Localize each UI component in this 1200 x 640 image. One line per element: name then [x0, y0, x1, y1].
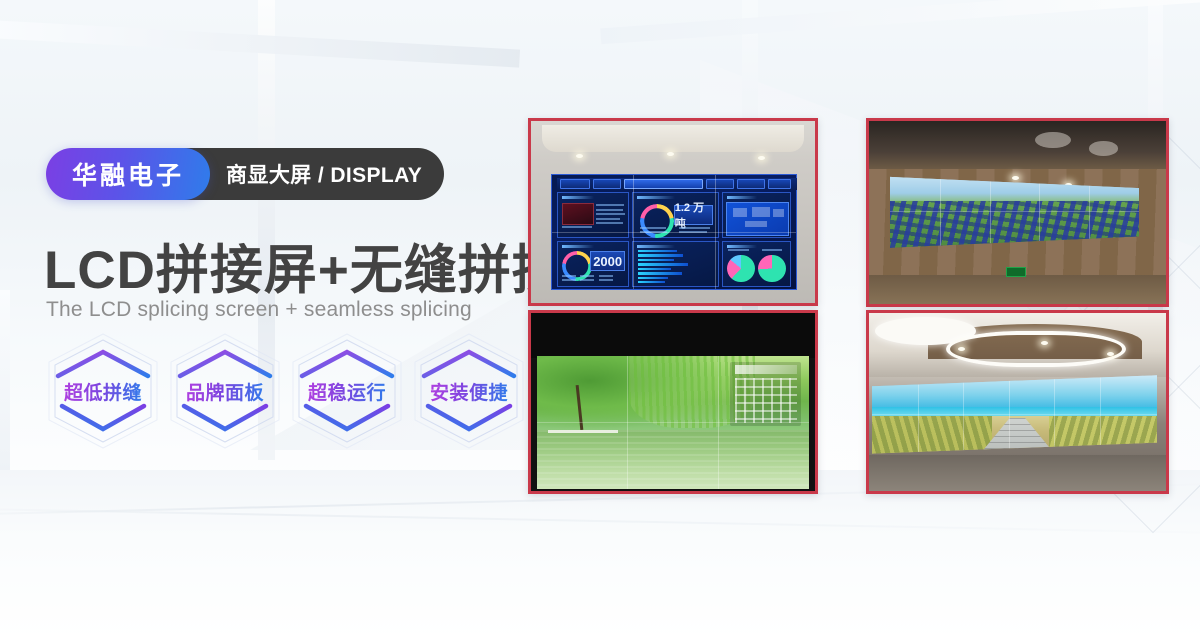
page-subtitle: The LCD splicing screen + seamless splic…: [46, 298, 472, 322]
dashboard-screen: 1.2 万吨: [551, 174, 797, 291]
feature-badge-row: 超低拼缝 品牌面板 超稳运行: [44, 332, 528, 450]
feature-badge-1: 品牌面板: [166, 332, 284, 450]
feature-badge-2: 超稳运行: [288, 332, 406, 450]
video-wall-screen: [537, 356, 810, 490]
feature-badge-label: 超低拼缝: [64, 378, 142, 405]
photo-willow-lake-video-wall: [528, 310, 818, 494]
feature-badge-label: 安装便捷: [430, 378, 508, 405]
feature-badge-0: 超低拼缝: [44, 332, 162, 450]
feature-badge-label: 超稳运行: [308, 378, 386, 405]
promo-banner: 华融电子 商显大屏 / DISPLAY LCD拼接屏+无缝拼接 The LCD …: [0, 0, 1200, 640]
brand-badge: 华融电子: [46, 148, 210, 200]
feature-badge-3: 安装便捷: [410, 332, 528, 450]
copy-block: 华融电子 商显大屏 / DISPLAY LCD拼接屏+无缝拼接 The LCD …: [44, 0, 544, 640]
photo-beach-boardwalk-video-wall: [866, 310, 1169, 494]
page-title: LCD拼接屏+无缝拼接: [44, 228, 566, 304]
video-wall-screen: [872, 375, 1157, 453]
photo-solar-farm-video-wall: [866, 118, 1169, 307]
product-photo-grid: 1.2 万吨: [528, 118, 1174, 490]
badge-row: 华融电子 商显大屏 / DISPLAY: [46, 148, 444, 200]
photo-dashboard-video-wall: 1.2 万吨: [528, 118, 818, 306]
background-pillar-0: [0, 290, 10, 520]
background-beam-2: [600, 0, 1200, 44]
feature-badge-label: 品牌面板: [186, 378, 264, 405]
calendar-overlay: [730, 362, 801, 426]
